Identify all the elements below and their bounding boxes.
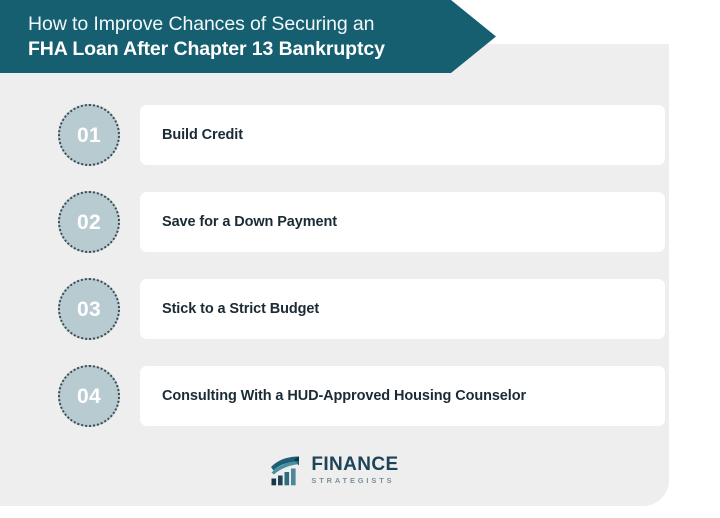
step-card-2: Save for a Down Payment xyxy=(140,192,665,252)
step-row-4: 04 Consulting With a HUD-Approved Housin… xyxy=(0,365,669,427)
step-number-badge-3: 03 xyxy=(58,278,120,340)
header-title-line-1: How to Improve Chances of Securing an xyxy=(28,12,444,37)
step-label-2: Save for a Down Payment xyxy=(162,214,337,230)
step-row-1: 01 Build Credit xyxy=(0,104,669,166)
finance-strategists-chart-arrow-icon xyxy=(270,456,304,486)
step-number-badge-1: 01 xyxy=(58,104,120,166)
step-label-4: Consulting With a HUD-Approved Housing C… xyxy=(162,388,526,404)
step-label-1: Build Credit xyxy=(162,127,243,143)
brand-logo: FINANCE STRATEGISTS xyxy=(0,455,669,486)
step-card-3: Stick to a Strict Budget xyxy=(140,279,665,339)
step-card-4: Consulting With a HUD-Approved Housing C… xyxy=(140,366,665,426)
step-card-1: Build Credit xyxy=(140,105,665,165)
logo-text-block: FINANCE STRATEGISTS xyxy=(311,455,398,486)
step-row-3: 03 Stick to a Strict Budget xyxy=(0,278,669,340)
steps-list: 01 Build Credit 02 Save for a Down Payme… xyxy=(0,104,669,427)
step-label-3: Stick to a Strict Budget xyxy=(162,301,319,317)
step-number-badge-2: 02 xyxy=(58,191,120,253)
step-number-badge-4: 04 xyxy=(58,365,120,427)
step-number-1: 01 xyxy=(77,125,101,146)
step-number-2: 02 xyxy=(77,212,101,233)
step-number-4: 04 xyxy=(77,386,101,407)
logo-tagline: STRATEGISTS xyxy=(311,475,398,486)
step-row-2: 02 Save for a Down Payment xyxy=(0,191,669,253)
header-title-line-2: FHA Loan After Chapter 13 Bankruptcy xyxy=(28,37,444,62)
logo-name: FINANCE xyxy=(311,455,398,474)
header-banner: How to Improve Chances of Securing an FH… xyxy=(0,0,496,73)
infographic-root: How to Improve Chances of Securing an FH… xyxy=(0,0,720,518)
step-number-3: 03 xyxy=(77,299,101,320)
